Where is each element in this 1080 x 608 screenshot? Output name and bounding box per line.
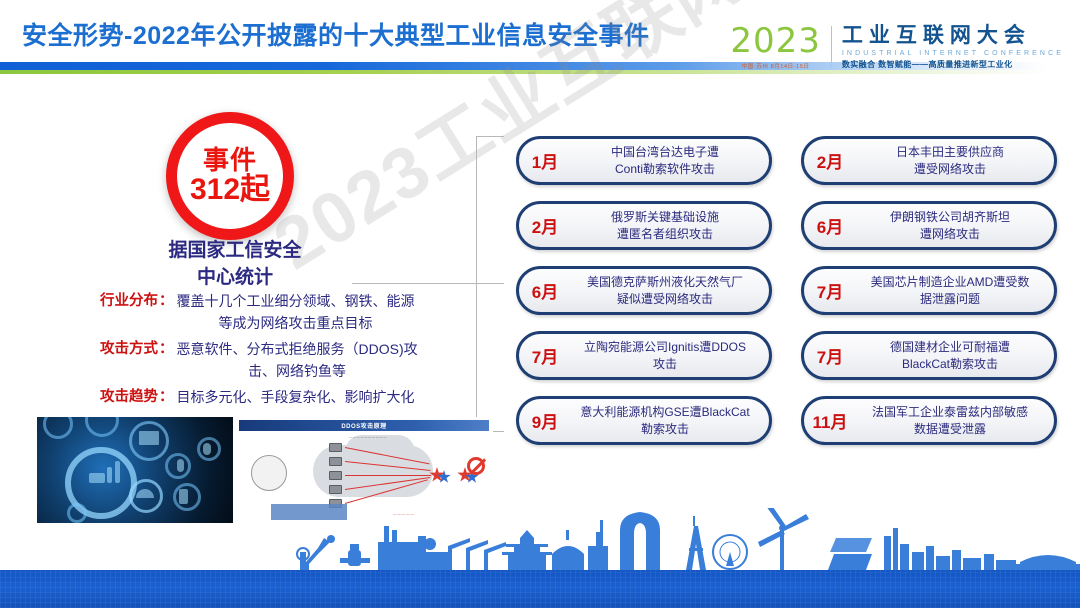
footer-water-band xyxy=(0,570,1080,608)
bar-icon xyxy=(107,467,112,483)
bar-icon xyxy=(115,461,120,483)
logo-divider xyxy=(831,26,832,68)
event-month: 6月 xyxy=(519,278,571,303)
event-text: 伊朗钢铁公司胡齐斯坦 遭网络攻击 xyxy=(856,209,1054,241)
event-month: 1月 xyxy=(519,148,571,173)
bracket-top xyxy=(476,136,504,137)
stat-value-line: 恶意软件、分布式拒绝服务（DDOS)攻 xyxy=(177,338,418,360)
stat-row: 攻击方式 ： 恶意软件、分布式拒绝服务（DDOS)攻 击、网络钓鱼等 xyxy=(70,338,490,382)
stat-colon: ： xyxy=(158,338,177,361)
event-text-line: 意大利能源机构GSE遭BlackCat xyxy=(571,404,759,420)
event-month: 7月 xyxy=(804,278,856,303)
event-item[interactable]: 6月 伊朗钢铁公司胡齐斯坦 遭网络攻击 xyxy=(801,201,1057,250)
stat-value-line: 击、网络钓鱼等 xyxy=(177,360,418,382)
badge-label: 事件 xyxy=(203,146,257,174)
event-text: 俄罗斯关键基础设施 遭匿名者组织攻击 xyxy=(571,209,769,241)
event-item[interactable]: 9月 意大利能源机构GSE遭BlackCat 勒索攻击 xyxy=(516,396,772,445)
event-text-line: Conti勒索软件攻击 xyxy=(571,161,759,177)
event-text: 法国军工企业泰雷兹内部敏感 数据遭受泄露 xyxy=(856,404,1054,436)
event-text: 意大利能源机构GSE遭BlackCat 勒索攻击 xyxy=(571,404,769,436)
zombie-node-icon xyxy=(329,471,342,480)
event-text: 美国德克萨斯州液化天然气厂 疑似遭受网络攻击 xyxy=(571,274,769,306)
data-source-label: 据国家工信安全 中心统计 xyxy=(100,238,370,292)
event-text-line: 遭网络攻击 xyxy=(856,226,1044,242)
monitor-icon xyxy=(139,431,159,445)
footer-skyline xyxy=(0,508,1080,608)
event-text-line: 伊朗钢铁公司胡齐斯坦 xyxy=(856,209,1044,225)
data-source-line2: 中心统计 xyxy=(100,265,370,292)
ddos-diagram-title: DDOS攻击原理 xyxy=(239,420,489,431)
stat-value-line: 覆盖十几个工业细分领域、钢铁、能源 xyxy=(177,290,415,312)
event-text-line: 德国建材企业可耐福遭 xyxy=(856,339,1044,355)
event-text: 中国台湾台达电子遭 Conti勒索软件攻击 xyxy=(571,144,769,176)
event-item[interactable]: 7月 德国建材企业可耐福遭 BlackCat勒索攻击 xyxy=(801,331,1057,380)
event-month: 2月 xyxy=(519,213,571,238)
event-text-line: BlackCat勒索攻击 xyxy=(856,356,1044,372)
event-text: 立陶宛能源公司Ignitis遭DDOS 攻击 xyxy=(571,339,769,371)
gear-icon xyxy=(43,417,73,439)
event-text-line: 立陶宛能源公司Ignitis遭DDOS xyxy=(571,339,759,355)
event-text: 日本丰田主要供应商 遭受网络攻击 xyxy=(856,144,1054,176)
person-icon xyxy=(203,443,211,455)
event-item[interactable]: 11月 法国军工企业泰雷兹内部敏感 数据遭受泄露 xyxy=(801,396,1057,445)
stat-value-line: 目标多元化、手段复杂化、影响扩大化 xyxy=(177,386,415,408)
event-month: 9月 xyxy=(519,408,571,433)
logo-name-en: INDUSTRIAL INTERNET CONFERENCE xyxy=(842,50,1064,58)
slide-root: 安全形势-2022年公开披露的十大典型工业信息安全事件 2023 中国·苏州 8… xyxy=(0,0,1080,608)
event-text-line: 法国军工企业泰雷兹内部敏感 xyxy=(856,404,1044,420)
stat-value-line: 等成为网络攻击重点目标 xyxy=(177,312,415,334)
gear-icon xyxy=(85,417,119,437)
bracket-vertical xyxy=(476,136,477,432)
event-text-line: 疑似遭受网络攻击 xyxy=(571,291,759,307)
event-text-line: 遭匿名者组织攻击 xyxy=(571,226,759,242)
phone-icon xyxy=(179,489,188,504)
stat-key: 攻击趋势 xyxy=(70,386,158,409)
conference-logo: 2023 中国·苏州 8月14日-15日 工业互联网大会 INDUSTRIAL … xyxy=(730,24,1064,70)
page-title: 安全形势-2022年公开披露的十大典型工业信息安全事件 xyxy=(22,16,649,52)
logo-meta: 中国·苏州 8月14日-15日 xyxy=(730,62,821,70)
event-month: 7月 xyxy=(804,343,856,368)
events-column-2: 2月 日本丰田主要供应商 遭受网络攻击 6月 伊朗钢铁公司胡齐斯坦 遭网络攻击 … xyxy=(801,136,1057,461)
person-icon xyxy=(177,459,184,472)
event-text-line: 勒索攻击 xyxy=(571,421,759,437)
logo-slogan: 数实融合 数智赋能——高质量推进新型工业化 xyxy=(842,60,1064,69)
event-month: 7月 xyxy=(519,343,571,368)
zombie-node-icon xyxy=(329,443,342,452)
events-column-1: 1月 中国台湾台达电子遭 Conti勒索软件攻击 2月 俄罗斯关键基础设施 遭匿… xyxy=(516,136,772,461)
event-text-line: 美国芯片制造企业AMD遭受数 xyxy=(856,274,1044,290)
connector-bracket xyxy=(476,136,504,432)
hacker-icon xyxy=(251,455,287,491)
logo-year: 2023 xyxy=(730,24,821,58)
stat-key: 行业分布 xyxy=(70,290,158,313)
data-source-line1: 据国家工信安全 xyxy=(100,238,370,265)
event-month: 2月 xyxy=(804,148,856,173)
event-text: 美国芯片制造企业AMD遭受数 据泄露问题 xyxy=(856,274,1054,306)
logo-name-cn: 工业互联网大会 xyxy=(842,24,1064,48)
event-text-line: 攻击 xyxy=(571,356,759,372)
event-month: 6月 xyxy=(804,213,856,238)
event-item[interactable]: 2月 俄罗斯关键基础设施 遭匿名者组织攻击 xyxy=(516,201,772,250)
header-divider-green xyxy=(0,70,1080,74)
event-item[interactable]: 2月 日本丰田主要供应商 遭受网络攻击 xyxy=(801,136,1057,185)
event-item[interactable]: 7月 立陶宛能源公司Ignitis遭DDOS 攻击 xyxy=(516,331,772,380)
event-item[interactable]: 1月 中国台湾台达电子遭 Conti勒索软件攻击 xyxy=(516,136,772,185)
event-text-line: 数据遭受泄露 xyxy=(856,421,1044,437)
event-text-line: 中国台湾台达电子遭 xyxy=(571,144,759,160)
chart-icon xyxy=(89,473,105,483)
event-text-line: 俄罗斯关键基础设施 xyxy=(571,209,759,225)
event-text-line: 遭受网络攻击 xyxy=(856,161,1044,177)
logo-year-block: 2023 中国·苏州 8月14日-15日 xyxy=(730,24,831,70)
stats-list: 行业分布 ： 覆盖十几个工业细分领域、钢铁、能源 等成为网络攻击重点目标 攻击方… xyxy=(70,290,490,413)
ddos-diagram-title-text: DDOS攻击原理 xyxy=(341,421,386,430)
city-silhouette xyxy=(0,508,1080,572)
event-month: 11月 xyxy=(804,408,856,433)
logo-name-block: 工业互联网大会 INDUSTRIAL INTERNET CONFERENCE 数… xyxy=(842,24,1064,69)
event-item[interactable]: 7月 美国芯片制造企业AMD遭受数 据泄露问题 xyxy=(801,266,1057,315)
stat-colon: ： xyxy=(158,386,177,409)
event-text-line: 美国德克萨斯州液化天然气厂 xyxy=(571,274,759,290)
zombie-node-icon xyxy=(329,457,342,466)
event-text-line: 据泄露问题 xyxy=(856,291,1044,307)
attack-ray xyxy=(345,475,431,476)
zombie-node-icon xyxy=(329,485,342,494)
stat-row: 攻击趋势 ： 目标多元化、手段复杂化、影响扩大化 xyxy=(70,386,490,409)
event-item[interactable]: 6月 美国德克萨斯州液化天然气厂 疑似遭受网络攻击 xyxy=(516,266,772,315)
event-count-badge: 事件 312起 xyxy=(166,112,294,240)
event-text-line: 日本丰田主要供应商 xyxy=(856,144,1044,160)
stat-row: 行业分布 ： 覆盖十几个工业细分领域、钢铁、能源 等成为网络攻击重点目标 xyxy=(70,290,490,334)
stat-value: 目标多元化、手段复杂化、影响扩大化 xyxy=(177,386,415,408)
stat-key: 攻击方式 xyxy=(70,338,158,361)
stat-value: 恶意软件、分布式拒绝服务（DDOS)攻 击、网络钓鱼等 xyxy=(177,338,418,382)
stat-colon: ： xyxy=(158,290,177,313)
stat-value: 覆盖十几个工业细分领域、钢铁、能源 等成为网络攻击重点目标 xyxy=(177,290,415,334)
blocked-icon xyxy=(467,457,485,475)
event-text: 德国建材企业可耐福遭 BlackCat勒索攻击 xyxy=(856,339,1054,371)
badge-count: 312起 xyxy=(190,174,270,206)
